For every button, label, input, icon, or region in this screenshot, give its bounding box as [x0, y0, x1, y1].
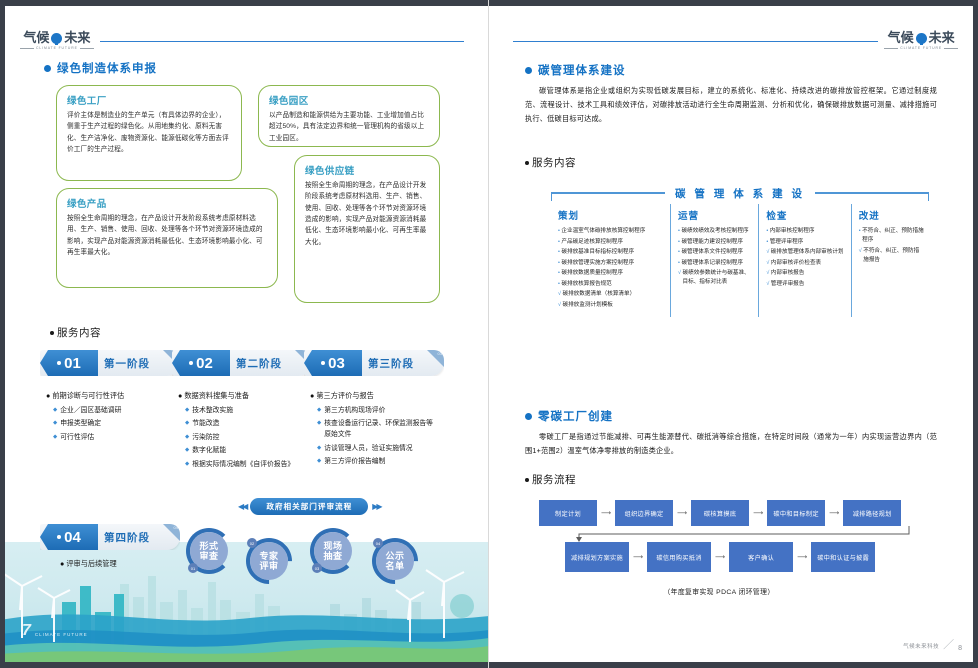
table-item: •碳绩效绩效及考核控制程序 [678, 227, 753, 236]
gov-review-banner: ◀◀ 政府相关部门评审流程 ▶▶ [238, 498, 381, 515]
phase-number-badge: 03 [304, 350, 362, 376]
callout-title: 绿色产品 [67, 196, 268, 210]
review-step-02[interactable]: 专家 评审 02 [246, 538, 292, 584]
frame-top-left [0, 0, 488, 6]
flow-box: 碳核算摸底 [691, 500, 749, 526]
phase-sub-item: ◆技术整改实施 [178, 405, 304, 416]
phase-list-04: ●评审与后续管理 [60, 558, 180, 573]
bulb-icon [916, 33, 927, 44]
column-items: •内部审核控制程序 •管理评审程序 √碳排放管理体系内部审核计划 √内部审核评价… [766, 227, 845, 289]
table-item: •碳排放核算报告规范 [558, 280, 665, 289]
phase-sub-item: ◆节能改造 [178, 418, 304, 429]
bullet-dot-small-icon [525, 161, 529, 165]
header-rule-left [100, 41, 464, 42]
step-index-badge: 01 [188, 563, 198, 573]
phase-sub-item: ◆第三方评价报告编制 [310, 456, 438, 467]
phase-tag-body: 04 第四阶段 04 [40, 524, 180, 550]
step-index-badge: 03 [312, 563, 322, 573]
table-item: •碳管理体系文件控制程序 [678, 248, 753, 257]
carbon-management-table: 碳 管 理 体 系 建 设 策划 •企业温室气体碳排放核算控制程序 •产品碳足迹… [551, 182, 929, 317]
callout-green-park: 绿色园区 以产品制造和能源供给为主要功能、工业增加值占比超过50%，具有法定边界… [258, 85, 440, 147]
phase-sub-item: ◆第三方机构现场评价 [310, 405, 438, 416]
table-item: •内部审核控制程序 [766, 227, 845, 236]
phase-number-badge: 04 [40, 524, 98, 550]
header-rule-right [513, 41, 878, 42]
callout-body: 按照全生命周期的理念，在产品设计开发阶段系统考虑原材料选用、生产、销售、使用、回… [67, 213, 268, 258]
callout-green-factory: 绿色工厂 评价主体是制造业的生产单元（有具体边界的企业），侧重于生产过程的绿色化… [56, 85, 242, 181]
column-items: •企业温室气体碳排放核算控制程序 •产品碳足迹核算控制程序 •碳排放基准目标指标… [558, 227, 665, 310]
bulb-icon [51, 33, 62, 44]
bullet-dot-small-icon [525, 478, 529, 482]
logo-char-2: 未来 [929, 32, 955, 45]
arrow-left-icon: ◀◀ [238, 502, 246, 511]
frame-top-right [489, 0, 978, 6]
flow-arrow-icon: ⟶ [825, 509, 843, 517]
table-title: 碳 管 理 体 系 建 设 [665, 186, 815, 201]
logo-left: 气候 未来 CLIMATE FUTURE [14, 32, 100, 51]
phase-tag-04[interactable]: 04 第四阶段 04 [40, 524, 180, 550]
phase-sub-item: ◆企业／园区基础调研 [46, 405, 176, 416]
phase-sub-item: ◆访谈管理人员，验证实施情况 [310, 443, 438, 454]
phase-sub-item: ◆污染防控 [178, 432, 304, 443]
phase-sub-item: ◆根据实际情况编制《自评价报告》 [178, 459, 304, 470]
flow-box: 客户确认 [729, 542, 793, 572]
flow-box: 减排路径规划 [843, 500, 901, 526]
logo-mark: 气候 未来 [888, 32, 955, 45]
logo-subtitle: CLIMATE FUTURE [884, 46, 958, 50]
phase-list-03: ●第三方评价与报告 ◆第三方机构现场评价 ◆核查设备运行记录、环保监测报告等原始… [310, 390, 438, 470]
callout-green-product: 绿色产品 按照全生命周期的理念，在产品设计开发阶段系统考虑原材料选用、生产、销售… [56, 188, 278, 288]
logo-char-1: 气候 [888, 32, 914, 45]
callout-body: 评价主体是制造业的生产单元（有具体边界的企业），侧重于生产过程的绿色化。从用地集… [67, 110, 232, 155]
phase-tag-01[interactable]: 01 第一阶段 01 [40, 350, 180, 376]
table-column-operation: 运营 •碳绩效绩效及考核控制程序 •碳管理能力建设控制程序 •碳管理体系文件控制… [670, 204, 758, 317]
table-column-planning: 策划 •企业温室气体碳排放核算控制程序 •产品碳足迹核算控制程序 •碳排放基准目… [551, 204, 670, 317]
table-item: √碳排放监测计划模板 [558, 301, 665, 310]
page-number: 8 [958, 645, 962, 652]
subheading-service-flow: 服务流程 [525, 472, 576, 487]
table-item: √不符合、纠正、预防措施报告 [859, 247, 924, 265]
footer-brand-text: CLIMATE FUTURE [35, 632, 88, 640]
title-rule-left [551, 192, 665, 193]
phase-title: 第三阶段 [368, 350, 414, 376]
phase-lead-item: ●前期诊断与可行性评估 [46, 390, 176, 402]
logo-subtitle: CLIMATE FUTURE [20, 46, 94, 50]
table-item: √碳排放数据清单（核算清单） [558, 290, 665, 299]
frame-bottom-left [0, 662, 488, 668]
table-item: √碳排放管理体系内部审核计划 [766, 248, 845, 257]
phase-pip-icon [321, 361, 325, 365]
column-header: 改进 [859, 208, 924, 222]
arrow-right-icon: ▶▶ [372, 502, 380, 511]
table-item: •企业温室气体碳排放核算控制程序 [558, 227, 665, 236]
step-ball: 专家 评审 [250, 542, 288, 580]
flow-arrow-icon: ⟶ [749, 509, 767, 517]
footer-brand-name: 气候未来科技 [903, 642, 939, 652]
title-rule-right [815, 192, 929, 193]
callout-body: 按照全生命周期的理念，在产品设计开发阶段系统考虑原材料选用、生产、销售、使用、回… [305, 180, 430, 248]
left-page: 气候 未来 CLIMATE FUTURE 绿色制造体系申报 绿色工厂 评价主体是… [0, 0, 489, 668]
step-index-badge: 04 [373, 538, 383, 548]
section-title-zero-carbon-factory: 零碳工厂创建 [525, 408, 613, 424]
table-body: 策划 •企业温室气体碳排放核算控制程序 •产品碳足迹核算控制程序 •碳排放基准目… [551, 204, 929, 317]
phase-corner-index: 03 [427, 350, 444, 367]
callout-title: 绿色工厂 [67, 93, 232, 107]
callout-title: 绿色园区 [269, 93, 430, 107]
page-number: 7 [22, 622, 31, 640]
table-item: •不符合、纠正、预防措施程序 [859, 227, 924, 245]
phase-list-02: ●数据资料搜集与准备 ◆技术整改实施 ◆节能改造 ◆污染防控 ◆数字化赋能 ◆根… [178, 390, 304, 472]
frame-left-edge [0, 0, 5, 668]
subheading-service-content-left: 服务内容 [50, 325, 101, 340]
table-title-row: 碳 管 理 体 系 建 设 [551, 182, 929, 204]
bullet-dot-small-icon [50, 331, 54, 335]
bracket-left [551, 193, 563, 201]
flow-arrow-icon: ⟶ [793, 553, 811, 561]
gov-review-label: 政府相关部门评审流程 [250, 498, 368, 515]
logo-char-1: 气候 [23, 32, 49, 45]
column-header: 策划 [558, 208, 665, 222]
magazine-spread: 气候 未来 CLIMATE FUTURE 绿色制造体系申报 绿色工厂 评价主体是… [0, 0, 978, 668]
paragraph-carbon-management: 碳管理体系是指企业或组织为实现低碳发展目标，建立的系统化、标准化、持续改进的碳排… [525, 84, 937, 126]
right-header: 气候 未来 CLIMATE FUTURE [513, 30, 964, 52]
review-step-03[interactable]: 现场 抽查 03 [310, 528, 356, 574]
column-items: •不符合、纠正、预防措施程序 √不符合、纠正、预防措施报告 [859, 227, 924, 265]
section-title-carbon-management: 碳管理体系建设 [525, 62, 626, 78]
bullet-dot-icon [44, 65, 51, 72]
phase-tag-body: 01 第一阶段 01 [40, 350, 180, 376]
flow-box: 制定计划 [539, 500, 597, 526]
phase-sub-item: ◆核查设备运行记录、环保监测报告等原始文件 [310, 418, 438, 440]
table-item: •碳排放数据质量控制程序 [558, 269, 665, 278]
bullet-dot-icon [525, 67, 532, 74]
column-items: •碳绩效绩效及考核控制程序 •碳管理能力建设控制程序 •碳管理体系文件控制程序 … [678, 227, 753, 287]
frame-right-edge [973, 0, 978, 668]
review-step-04[interactable]: 公示 名单 04 [372, 538, 418, 584]
logo-mark: 气候 未来 [23, 32, 90, 45]
phase-pip-icon [57, 535, 61, 539]
table-item: √内部审核评价检查表 [766, 259, 845, 268]
table-item: •碳管理能力建设控制程序 [678, 238, 753, 247]
step-ball: 公示 名单 [376, 542, 414, 580]
phase-title: 第二阶段 [236, 350, 282, 376]
phase-pip-icon [189, 361, 193, 365]
phase-tag-02[interactable]: 02 第二阶段 02 [172, 350, 312, 376]
callout-title: 绿色供应链 [305, 163, 430, 177]
left-header: 气候 未来 CLIMATE FUTURE [14, 30, 464, 52]
phase-sub-item: ◆数字化赋能 [178, 445, 304, 456]
phase-sub-item: ◆申报类型确定 [46, 418, 176, 429]
phase-title: 第一阶段 [104, 350, 150, 376]
review-step-01[interactable]: 形式 审查 01 [186, 528, 232, 574]
table-item: √内部审核报告 [766, 269, 845, 278]
callout-green-supply-chain: 绿色供应链 按照全生命周期的理念，在产品设计开发阶段系统考虑原材料选用、生产、销… [294, 155, 440, 303]
footer-slash: ／ [943, 636, 954, 652]
left-page-footer: 7 CLIMATE FUTURE [22, 622, 88, 640]
flow-box: 碳中和认证与披露 [811, 542, 875, 572]
phase-title: 第四阶段 [104, 524, 150, 550]
flow-arrow-icon: ⟶ [711, 553, 729, 561]
flow-box: 组织边界确定 [615, 500, 673, 526]
phase-number-badge: 02 [172, 350, 230, 376]
right-page: 气候 未来 CLIMATE FUTURE 碳管理体系建设 碳管理体系是指企业或组… [489, 0, 978, 668]
flow-arrow-icon: ⟶ [597, 509, 615, 517]
table-column-improve: 改进 •不符合、纠正、预防措施程序 √不符合、纠正、预防措施报告 [851, 204, 929, 317]
phase-lead-item: ●评审与后续管理 [60, 558, 180, 570]
service-flow-chart: 制定计划 ⟶ 组织边界确定 ⟶ 碳核算摸底 ⟶ 碳中和目标制定 ⟶ 减排路径规划… [539, 500, 939, 596]
table-item: •碳管理体系记录控制程序 [678, 259, 753, 268]
phase-tag-body: 03 第三阶段 03 [304, 350, 444, 376]
right-page-footer: 气候未来科技 ／ 8 [903, 636, 962, 652]
flow-row-1: 制定计划 ⟶ 组织边界确定 ⟶ 碳核算摸底 ⟶ 碳中和目标制定 ⟶ 减排路径规划 [539, 500, 939, 526]
phase-pip-icon [57, 361, 61, 365]
callout-body: 以产品制造和能源供给为主要功能、工业增加值占比超过50%，具有法定边界和统一管理… [269, 110, 430, 144]
phase-list-01: ●前期诊断与可行性评估 ◆企业／园区基础调研 ◆申报类型确定 ◆可行性评估 [46, 390, 176, 445]
table-column-check: 检查 •内部审核控制程序 •管理评审程序 √碳排放管理体系内部审核计划 √内部审… [758, 204, 850, 317]
table-item: •碳排放管理实施方案控制程序 [558, 259, 665, 268]
bullet-dot-icon [525, 413, 532, 420]
column-header: 检查 [766, 208, 845, 222]
frame-bottom-right [489, 662, 978, 668]
bracket-right [917, 193, 929, 201]
phase-lead-item: ●第三方评价与报告 [310, 390, 438, 402]
table-item: •管理评审程序 [766, 238, 845, 247]
flow-box: 碳中和目标制定 [767, 500, 825, 526]
phase-corner-index: 04 [163, 524, 180, 541]
flow-box: 碳信用购买抵消 [647, 542, 711, 572]
flow-box: 减排规划方案实施 [565, 542, 629, 572]
column-header: 运营 [678, 208, 753, 222]
flow-note: （年度复审实现 PDCA 闭环管理） [539, 586, 899, 596]
phase-tag-body: 02 第二阶段 02 [172, 350, 312, 376]
flow-arrow-icon: ⟶ [629, 553, 647, 561]
table-item: •碳排放基准目标指标控制程序 [558, 248, 665, 257]
step-index-badge: 02 [247, 538, 257, 548]
logo-char-2: 未来 [64, 32, 90, 45]
table-item: •产品碳足迹核算控制程序 [558, 238, 665, 247]
phase-lead-item: ●数据资料搜集与准备 [178, 390, 304, 402]
phase-sub-item: ◆可行性评估 [46, 432, 176, 443]
subheading-service-content-right: 服务内容 [525, 155, 576, 170]
flow-connector [539, 526, 939, 542]
phase-tag-03[interactable]: 03 第三阶段 03 [304, 350, 444, 376]
flow-arrow-icon: ⟶ [673, 509, 691, 517]
paragraph-zero-carbon-factory: 零碳工厂是指通过节能减排、可再生能源替代、碳抵消等综合措施，在特定时间段（通常为… [525, 430, 937, 458]
section-title-green-manufacturing: 绿色制造体系申报 [44, 60, 157, 76]
phase-number-badge: 01 [40, 350, 98, 376]
logo-right: 气候 未来 CLIMATE FUTURE [878, 32, 964, 51]
flow-row-2: 减排规划方案实施 ⟶ 碳信用购买抵消 ⟶ 客户确认 ⟶ 碳中和认证与披露 [539, 542, 939, 572]
table-item: √碳绩效参数统计与碳基准、目标、指标对比表 [678, 269, 753, 287]
table-item: √管理评审报告 [766, 280, 845, 289]
